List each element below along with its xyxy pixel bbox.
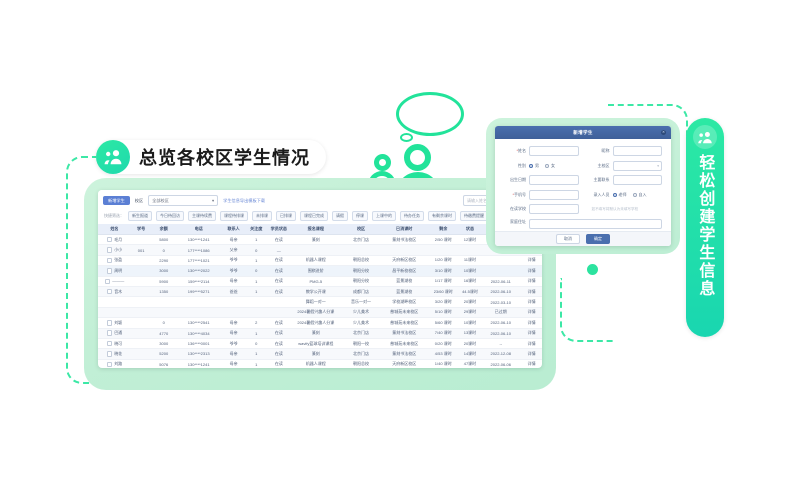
field-contact: 主要联系 <box>588 175 663 185</box>
cell-name: 周明 <box>98 266 131 276</box>
cell-used: 2/50 课时 <box>427 235 460 245</box>
cell-store: 朝阳一校 <box>340 338 381 348</box>
cell-phone: 130****2022 <box>176 266 221 276</box>
cell-used: 3/20 课时 <box>427 297 460 307</box>
cell-phone: 130****2541 <box>176 318 221 328</box>
cancel-button[interactable]: 取消 <box>556 234 580 244</box>
filter-chip[interactable]: 停课 <box>352 211 368 221</box>
table-row[interactable]: 刘路 5076 130****1241 母亲 1 在读 机器人课程 朝阳总校 天… <box>98 359 542 368</box>
cell-no <box>131 297 152 307</box>
cell-campus: 蓝景湖校 <box>382 286 427 296</box>
close-icon[interactable]: ✕ <box>661 130 666 135</box>
cell-no: 001 <box>131 245 152 255</box>
quick-filter-row: 快捷筛选： 新生报道 今日待回访 主课待续费 课程待排课 未排课 已排课 课程已… <box>98 208 542 224</box>
cell-phone: 177****1086 <box>176 245 221 255</box>
cell-contact: 爷爷 <box>221 255 246 265</box>
cell-state: 在读 <box>267 328 292 338</box>
table-row[interactable]: 周明 3000 130****2022 爷爷 0 在读 围棋进阶 朝阳分校 昌平… <box>98 266 542 276</box>
col-balance[interactable]: 余额 <box>151 224 176 235</box>
cell-phone: 130****4034 <box>176 328 221 338</box>
cell-campus: 慈城苑未来校区 <box>382 338 427 348</box>
cell-left: 12课时 <box>460 235 481 245</box>
cell-left: 16课时 <box>460 276 481 286</box>
cell-store: 北京门店 <box>340 328 381 338</box>
table-body: 毛月 5800 130****1241 母亲 1 在读 篆刻 北京门店 篆刻书法… <box>98 235 542 369</box>
form-row: *手机号 录入人员 老师 自入 <box>504 190 662 200</box>
cell-campus: 篆刻书法校区 <box>382 349 427 359</box>
cell-campus: 天府新区校区 <box>382 255 427 265</box>
cell-no <box>131 276 152 286</box>
student-table: 姓名 学号 余额 电话 联系人 关注度 学员状态 报名课程 校区 已消课时 剩余… <box>98 224 542 368</box>
cell-action[interactable]: 详情 <box>521 328 542 338</box>
cell-left: 13课时 <box>460 328 481 338</box>
cell-course: PMG-5 <box>291 276 340 286</box>
cell-focus: 1 <box>246 276 267 286</box>
cell-created <box>480 266 521 276</box>
add-student-button[interactable]: 新增学生 <box>103 196 130 205</box>
cell-phone <box>176 297 221 307</box>
campus-filter-label: 校区 <box>135 198 143 204</box>
cell-contact <box>221 297 246 307</box>
cell-course: 机器人课程 <box>291 359 340 368</box>
cell-focus: 0 <box>246 266 267 276</box>
cell-phone: 199****5271 <box>176 286 221 296</box>
cell-course: 篆刻 <box>291 328 340 338</box>
dialog-titlebar: 新增学生 ✕ <box>495 126 671 139</box>
form-row: 性别 男 女 主校区 ▾ <box>504 161 662 171</box>
cell-focus <box>246 307 267 317</box>
cell-focus: 1 <box>246 255 267 265</box>
table-row[interactable]: 巴通 4770 130****4034 母亲 1 在读 篆刻 北京门店 篆刻书法… <box>98 328 542 338</box>
nickname-label: 昵称 <box>588 148 610 154</box>
cell-left: 10课时 <box>460 266 481 276</box>
cell-state: — <box>267 245 292 255</box>
col-phone[interactable]: 电话 <box>176 224 221 235</box>
row-checkbox[interactable] <box>107 341 113 347</box>
cell-phone: 130****1241 <box>176 359 221 368</box>
phone-label: *手机号 <box>504 192 526 198</box>
name-input[interactable] <box>529 146 579 156</box>
cell-store: 朝阳总校 <box>340 359 381 368</box>
row-checkbox[interactable] <box>107 268 113 274</box>
cell-created: 2022-06-10 <box>480 328 521 338</box>
form-row: 在读学校 如不填写将默认为未填写学校 <box>504 204 662 214</box>
cell-contact: 母亲 <box>221 328 246 338</box>
cell-phone: 130****2313 <box>176 349 221 359</box>
col-no[interactable]: 学号 <box>131 224 152 235</box>
cell-campus: 篆刻书法校区 <box>382 328 427 338</box>
nickname-input[interactable] <box>613 146 663 156</box>
cell-campus: 慈城苑未来校区 <box>382 307 427 317</box>
cell-left: 29课时 <box>460 307 481 317</box>
table-toolbar: 新增学生 校区 全部校区 ▾ 学生信息导出模板下载 请输入姓名/手机号 <box>98 190 542 208</box>
cell-used: 1/40 课时 <box>427 359 460 368</box>
cell-state: 在读 <box>267 318 292 328</box>
cell-name: 刘路 <box>98 359 131 368</box>
cell-used: 5/10 课时 <box>427 307 460 317</box>
filter-chip[interactable]: 上课中的 <box>372 211 396 221</box>
thought-bubble-dot-icon <box>400 133 413 142</box>
cell-state: 在读 <box>267 266 292 276</box>
cell-state: 在读 <box>267 359 292 368</box>
school-hint-text: 如不填写将默认为未填写学校 <box>592 207 639 212</box>
cell-no <box>131 235 152 245</box>
cell-created <box>480 255 521 265</box>
cell-store: 音乐一对一 <box>340 297 381 307</box>
cell-balance: 3000 <box>151 266 176 276</box>
row-checkbox[interactable] <box>107 247 113 253</box>
filter-chip[interactable]: 主课待续费 <box>188 211 216 221</box>
cell-phone: 159****2114 <box>176 276 221 286</box>
gender-radio-group: 男 女 <box>529 163 579 169</box>
cell-name: 晓花 <box>98 349 131 359</box>
cell-created: 已过期 <box>480 307 521 317</box>
cell-contact: 母亲 <box>221 349 246 359</box>
cell-left: 10课时 <box>460 318 481 328</box>
cell-store: 北京门店 <box>340 235 381 245</box>
cell-name: 张盈 <box>98 255 131 265</box>
cell-balance: 4770 <box>151 328 176 338</box>
cell-balance: 0 <box>151 318 176 328</box>
col-name[interactable]: 姓名 <box>98 224 131 235</box>
cell-name: 刘颖 <box>98 318 131 328</box>
cell-no <box>131 307 152 317</box>
filter-chip[interactable]: 已排课 <box>276 211 296 221</box>
cell-campus: 天府新区校区 <box>382 359 427 368</box>
col-contact[interactable]: 联系人 <box>221 224 246 235</box>
form-row: 出生日期 主要联系 <box>504 175 662 185</box>
cell-used: 3/10 课时 <box>427 266 460 276</box>
cell-action[interactable]: 详情 <box>521 307 542 317</box>
cell-contact: 母亲 <box>221 318 246 328</box>
cell-focus: 1 <box>246 349 267 359</box>
cell-created: 2022-06-10 <box>480 318 521 328</box>
field-gender: 性别 男 女 <box>504 161 579 171</box>
cell-used: 5/60 课时 <box>427 318 460 328</box>
row-checkbox[interactable] <box>107 289 113 295</box>
form-row-address: 家庭住址 <box>504 219 662 229</box>
cell-name: 巴通 <box>98 328 131 338</box>
cell-course: wavify篮球培训课程 <box>291 338 340 348</box>
cell-contact: 母亲 <box>221 235 246 245</box>
campus-filter-select[interactable]: 全部校区 ▾ <box>148 195 218 206</box>
cell-balance: 2290 <box>151 255 176 265</box>
school-input[interactable] <box>529 204 579 214</box>
dialog-footer: 取消 确定 <box>495 231 671 246</box>
cell-contact: 爷爷 <box>221 338 246 348</box>
cell-used <box>427 245 460 255</box>
table-row[interactable]: ——— 5900 159****2114 母亲 1 在读 PMG-5 朝阳分校 … <box>98 276 542 286</box>
cell-campus: 篆刻书法校区 <box>382 235 427 245</box>
gender-label: 性别 <box>504 163 526 169</box>
cell-action[interactable]: 详情 <box>521 359 542 368</box>
people-icon <box>96 140 130 174</box>
cell-name: 音木 <box>98 286 131 296</box>
cell-created: 2022-06-06 <box>480 359 521 368</box>
contact-input[interactable] <box>613 175 663 185</box>
cell-course: 围棋进阶 <box>291 266 340 276</box>
cell-balance: 5800 <box>151 235 176 245</box>
cell-balance: 5900 <box>151 276 176 286</box>
overview-label-pill: 总览各校区学生情况 <box>96 140 326 174</box>
cell-created: 2022-12-08 <box>480 349 521 359</box>
cell-course: 机器人课程 <box>291 255 340 265</box>
row-checkbox[interactable] <box>105 279 111 285</box>
school-label: 在读学校 <box>504 206 526 212</box>
people-icon <box>693 125 717 149</box>
field-phone: *手机号 <box>504 190 579 200</box>
source-radio-self[interactable]: 自入 <box>633 192 647 198</box>
cell-focus: 1 <box>246 359 267 368</box>
cell-contact <box>221 307 246 317</box>
cell-left: 47课时 <box>460 359 481 368</box>
cell-balance <box>151 297 176 307</box>
cell-left: 14课时 <box>460 349 481 359</box>
contact-label: 主要联系 <box>588 177 610 183</box>
cell-campus: 昌平新校校区 <box>382 266 427 276</box>
field-school-hint: 如不填写将默认为未填写学校 <box>588 204 663 214</box>
row-checkbox[interactable] <box>107 320 113 326</box>
cell-course: 篆刻 <box>291 349 340 359</box>
cell-no <box>131 328 152 338</box>
cell-action[interactable]: 详情 <box>521 266 542 276</box>
chevron-down-icon: ▾ <box>212 198 214 203</box>
cell-left: 44.5课时 <box>460 286 481 296</box>
cell-left: 20课时 <box>460 297 481 307</box>
table-row[interactable]: 音木 1350 199****5271 爸爸 1 在读 教学公开课 成都门店 蓝… <box>98 286 542 296</box>
row-checkbox[interactable] <box>107 258 113 264</box>
cell-state <box>267 297 292 307</box>
cell-balance: 1350 <box>151 286 176 296</box>
dialog-green-frame: 新增学生 ✕ *姓名 昵称 性别 <box>486 118 680 254</box>
cell-phone <box>176 307 221 317</box>
create-label-pill: 轻松创建学生信息 <box>686 118 724 337</box>
cell-focus: 1 <box>246 328 267 338</box>
filter-chip[interactable]: 请假 <box>332 211 348 221</box>
cell-no <box>131 338 152 348</box>
cell-focus: 2 <box>246 318 267 328</box>
cell-course: 舞蹈一对一 <box>291 297 340 307</box>
col-status[interactable]: 状态 <box>460 224 481 235</box>
filter-chip[interactable]: 新生报道 <box>128 211 152 221</box>
filter-chip[interactable]: 课程待排课 <box>220 211 248 221</box>
cell-campus: 慈城苑未来校区 <box>382 318 427 328</box>
thought-bubble-icon <box>396 92 464 136</box>
row-checkbox[interactable] <box>107 351 113 357</box>
cell-contact: 爷爷 <box>221 266 246 276</box>
cell-contact: 母亲 <box>221 276 246 286</box>
field-source: 录入人员 老师 自入 <box>588 190 663 200</box>
field-birthday: 出生日期 <box>504 175 579 185</box>
table-row[interactable]: 小小 001 0 177****1086 父亲 0 — <box>98 245 542 255</box>
cell-state: 在读 <box>267 349 292 359</box>
row-checkbox[interactable] <box>107 237 113 243</box>
cell-store: 成都门店 <box>340 286 381 296</box>
birthday-input[interactable] <box>529 175 579 185</box>
cell-created: 2022-03-10 <box>480 297 521 307</box>
address-input[interactable] <box>529 219 662 229</box>
campus-label: 主校区 <box>588 163 610 169</box>
cell-action[interactable]: 详情 <box>521 255 542 265</box>
field-nickname: 昵称 <box>588 146 663 156</box>
cell-contact: 父亲 <box>221 245 246 255</box>
filter-chip[interactable]: 待缴费提醒 <box>460 211 488 221</box>
cell-state: 在读 <box>267 235 292 245</box>
col-student-state[interactable]: 学员状态 <box>267 224 292 235</box>
col-store[interactable]: 校区 <box>340 224 381 235</box>
table-row[interactable]: 张盈 2290 177****1021 爷爷 1 在读 机器人课程 朝阳总校 天… <box>98 255 542 265</box>
cell-action[interactable]: 详情 <box>521 318 542 328</box>
form-row: *姓名 昵称 <box>504 146 662 156</box>
cell-balance: 0 <box>151 245 176 255</box>
col-course[interactable]: 报名课程 <box>291 224 340 235</box>
cell-left <box>460 245 481 255</box>
table-row[interactable]: 刘颖 0 130****2541 母亲 2 在读 2024暑假兴趣人分课 少儿美… <box>98 318 542 328</box>
cell-phone: 177****1021 <box>176 255 221 265</box>
cell-no <box>131 359 152 368</box>
cell-campus <box>382 245 427 255</box>
quick-filter-label: 快捷筛选： <box>104 213 124 219</box>
cell-balance: 5076 <box>151 359 176 368</box>
cell-action[interactable]: 详情 <box>521 297 542 307</box>
student-table-panel: 新增学生 校区 全部校区 ▾ 学生信息导出模板下载 请输入姓名/手机号 快捷筛选… <box>98 190 542 368</box>
chevron-down-icon: ▾ <box>657 164 659 168</box>
table-row[interactable]: 毛月 5800 130****1241 母亲 1 在读 篆刻 北京门店 篆刻书法… <box>98 235 542 245</box>
birthday-label: 出生日期 <box>504 177 526 183</box>
cell-focus: 1 <box>246 286 267 296</box>
col-focus[interactable]: 关注度 <box>246 224 267 235</box>
cell-name: ——— <box>98 276 131 286</box>
name-label: *姓名 <box>504 148 526 154</box>
source-label: 录入人员 <box>588 192 610 198</box>
cell-phone: 130****1241 <box>176 235 221 245</box>
cell-name <box>98 297 131 307</box>
filter-chip[interactable]: 有剩余课时 <box>428 211 456 221</box>
field-name: *姓名 <box>504 146 579 156</box>
cell-store: 北京门店 <box>340 349 381 359</box>
cell-campus: 蓝景湖校 <box>382 276 427 286</box>
dialog-title: 新增学生 <box>573 130 593 136</box>
cell-state <box>267 307 292 317</box>
cell-balance <box>151 307 176 317</box>
overview-label-text: 总览各校区学生情况 <box>139 144 310 170</box>
source-radio-teacher[interactable]: 老师 <box>613 192 627 198</box>
cell-created: -- <box>480 338 521 348</box>
confirm-button[interactable]: 确定 <box>586 234 610 244</box>
address-label: 家庭住址 <box>504 219 526 225</box>
cell-name <box>98 307 131 317</box>
cell-left: 11课时 <box>460 255 481 265</box>
people-illustration <box>358 92 478 192</box>
cell-used: 0/20 课时 <box>427 338 460 348</box>
cell-no <box>131 255 152 265</box>
cell-no <box>131 266 152 276</box>
cell-contact: 爸爸 <box>221 286 246 296</box>
cell-course: 篆刻 <box>291 235 340 245</box>
cell-action[interactable]: 详情 <box>521 286 542 296</box>
cell-store <box>340 245 381 255</box>
cell-created: 2022-06-11 <box>480 276 521 286</box>
template-download-link[interactable]: 学生信息导出模板下载 <box>223 198 265 204</box>
cell-no <box>131 349 152 359</box>
cell-used: 4/53 课时 <box>427 349 460 359</box>
cell-no <box>131 318 152 328</box>
poster-stage: 新增学生 校区 全部校区 ▾ 学生信息导出模板下载 请输入姓名/手机号 快捷筛选… <box>0 0 800 500</box>
dashed-connector-right-bottom <box>560 278 614 342</box>
cell-course: 教学公开课 <box>291 286 340 296</box>
cell-state: 在读 <box>267 286 292 296</box>
col-used[interactable]: 剩余 <box>427 224 460 235</box>
dialog-body: *姓名 昵称 性别 男 女 <box>495 139 671 246</box>
cell-used: 23/60 课时 <box>427 286 460 296</box>
cell-used: 7/40 课时 <box>427 328 460 338</box>
cell-store: 朝阳分校 <box>340 266 381 276</box>
cell-left: 20课时 <box>460 338 481 348</box>
table-row[interactable]: 晓花 5200 130****2313 母亲 1 在读 篆刻 北京门店 篆刻书法… <box>98 349 542 359</box>
cell-balance: 5200 <box>151 349 176 359</box>
cell-course: 2024暑假兴趣人分课 <box>291 307 340 317</box>
field-campus: 主校区 ▾ <box>588 161 663 171</box>
filter-chip[interactable]: 未排课 <box>252 211 272 221</box>
cell-name: 小小 <box>98 245 131 255</box>
filter-chip[interactable]: 今日待回访 <box>156 211 184 221</box>
table-row[interactable]: 晓可 3000 136****0001 爷爷 0 在读 wavify篮球培训课程… <box>98 338 542 348</box>
cell-balance: 3000 <box>151 338 176 348</box>
cell-action[interactable]: 详情 <box>521 338 542 348</box>
cell-course <box>291 245 340 255</box>
cell-store: 少儿美术 <box>340 318 381 328</box>
cell-name: 毛月 <box>98 235 131 245</box>
cell-name: 晓可 <box>98 338 131 348</box>
table-header-row: 姓名 学号 余额 电话 联系人 关注度 学员状态 报名课程 校区 已消课时 剩余… <box>98 224 542 235</box>
cell-used: 1/17 课时 <box>427 276 460 286</box>
cell-focus: 0 <box>246 338 267 348</box>
filter-chip[interactable]: 课程已完成 <box>300 211 328 221</box>
cell-store: 少儿美术 <box>340 307 381 317</box>
cell-campus: 学校湖畔校区 <box>382 297 427 307</box>
row-checkbox[interactable] <box>107 330 113 336</box>
cell-store: 朝阳总校 <box>340 255 381 265</box>
campus-select[interactable]: ▾ <box>613 161 663 171</box>
cell-action[interactable]: 详情 <box>521 349 542 359</box>
add-student-dialog: 新增学生 ✕ *姓名 昵称 性别 <box>495 126 671 246</box>
campus-filter-value: 全部校区 <box>152 198 169 204</box>
col-campus[interactable]: 已消课时 <box>382 224 427 235</box>
cell-action[interactable]: 详情 <box>521 276 542 286</box>
cell-phone: 136****0001 <box>176 338 221 348</box>
cell-focus: 1 <box>246 235 267 245</box>
filter-chip[interactable]: 待办任务 <box>400 211 424 221</box>
cell-state: 在读 <box>267 338 292 348</box>
source-radio-group: 老师 自入 <box>613 192 663 198</box>
cell-created: 2022-06-10 <box>480 286 521 296</box>
table-row[interactable]: 舞蹈一对一 音乐一对一 学校湖畔校区 3/20 课时 20课时 2022-03-… <box>98 297 542 307</box>
cell-state: 在读 <box>267 255 292 265</box>
gender-radio-male[interactable]: 男 <box>529 163 539 169</box>
field-school: 在读学校 <box>504 204 579 214</box>
create-label-text: 轻松创建学生信息 <box>697 154 714 298</box>
cell-store: 朝阳分校 <box>340 276 381 286</box>
row-checkbox[interactable] <box>107 362 113 368</box>
table-row[interactable]: 2024暑假兴趣人分课 少儿美术 慈城苑未来校区 5/10 课时 29课时 已过… <box>98 307 542 317</box>
gender-radio-female[interactable]: 女 <box>545 163 555 169</box>
phone-input[interactable] <box>529 190 579 200</box>
cell-focus <box>246 297 267 307</box>
cell-state: 在读 <box>267 276 292 286</box>
cell-contact: 母亲 <box>221 359 246 368</box>
cell-focus: 0 <box>246 245 267 255</box>
cell-used: 1/20 课时 <box>427 255 460 265</box>
